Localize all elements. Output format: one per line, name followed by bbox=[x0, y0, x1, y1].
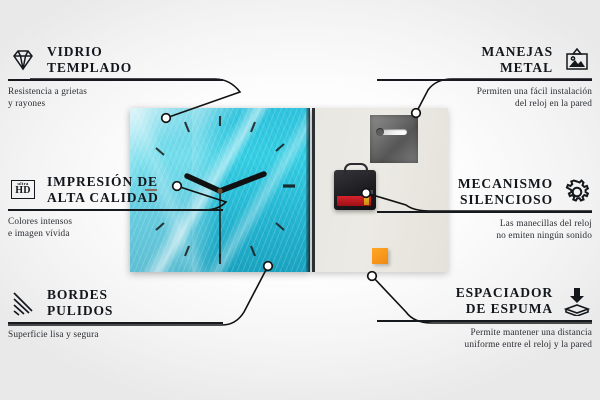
feature-title: ESPACIADOR DE ESPUMA bbox=[456, 285, 553, 316]
feature-title: MANEJAS METAL bbox=[481, 44, 553, 75]
feature-manejas-metal: MANEJAS METAL Permiten una fácil instala… bbox=[377, 44, 592, 111]
feature-description: Permiten una fácil instalación del reloj… bbox=[377, 86, 592, 111]
feature-vidrio-templado: VIDRIO TEMPLADO Resistencia a grietas y … bbox=[8, 44, 223, 111]
feature-bordes-pulidos: BORDES PULIDOS Superficie lisa y segura bbox=[8, 287, 223, 341]
feature-description: Colores intensos e imagen vívida bbox=[8, 216, 223, 241]
feature-description: Las manecillas del reloj no emiten ningú… bbox=[377, 218, 592, 243]
feature-rule bbox=[8, 79, 223, 81]
callout-dot-vidrio bbox=[162, 114, 171, 123]
framed-picture-icon bbox=[562, 45, 592, 75]
feature-title: VIDRIO TEMPLADO bbox=[47, 44, 132, 75]
gear-icon bbox=[562, 177, 592, 207]
arrow-down-layer-icon bbox=[562, 286, 592, 316]
infographic-canvas: VIDRIO TEMPLADO Resistencia a grietas y … bbox=[0, 0, 600, 400]
diagonal-lines-icon bbox=[8, 288, 38, 318]
feature-mecanismo-silencioso: MECANISMO SILENCIOSO Las manecillas del … bbox=[377, 176, 592, 243]
feature-description: Superficie lisa y segura bbox=[8, 329, 223, 342]
feature-description: Permite mantener una distancia uniforme … bbox=[377, 327, 592, 352]
feature-description: Resistencia a grietas y rayones bbox=[8, 86, 223, 111]
feature-rule bbox=[377, 79, 592, 81]
feature-rule bbox=[8, 209, 223, 211]
feature-title: BORDES PULIDOS bbox=[47, 287, 113, 318]
feature-title: IMPRESIÓN DE ALTA CALIDAD bbox=[47, 174, 159, 205]
feature-rule bbox=[377, 320, 592, 322]
feature-rule bbox=[8, 322, 223, 324]
callout-dot-bordes bbox=[264, 262, 273, 271]
diamond-icon bbox=[8, 45, 38, 75]
feature-rule bbox=[377, 211, 592, 213]
feature-title: MECANISMO SILENCIOSO bbox=[458, 176, 553, 207]
feature-espaciador-espuma: ESPACIADOR DE ESPUMA Permite mantener un… bbox=[377, 285, 592, 352]
feature-impresion-alta-calidad: ultra HD IMPRESIÓN DE ALTA CALIDAD Color… bbox=[8, 174, 223, 241]
callout-dot-mecanismo bbox=[362, 189, 371, 198]
ultra-hd-icon: ultra HD bbox=[8, 175, 38, 205]
callout-dot-espaciador bbox=[368, 272, 377, 281]
hd-badge-hd: HD bbox=[15, 186, 31, 196]
